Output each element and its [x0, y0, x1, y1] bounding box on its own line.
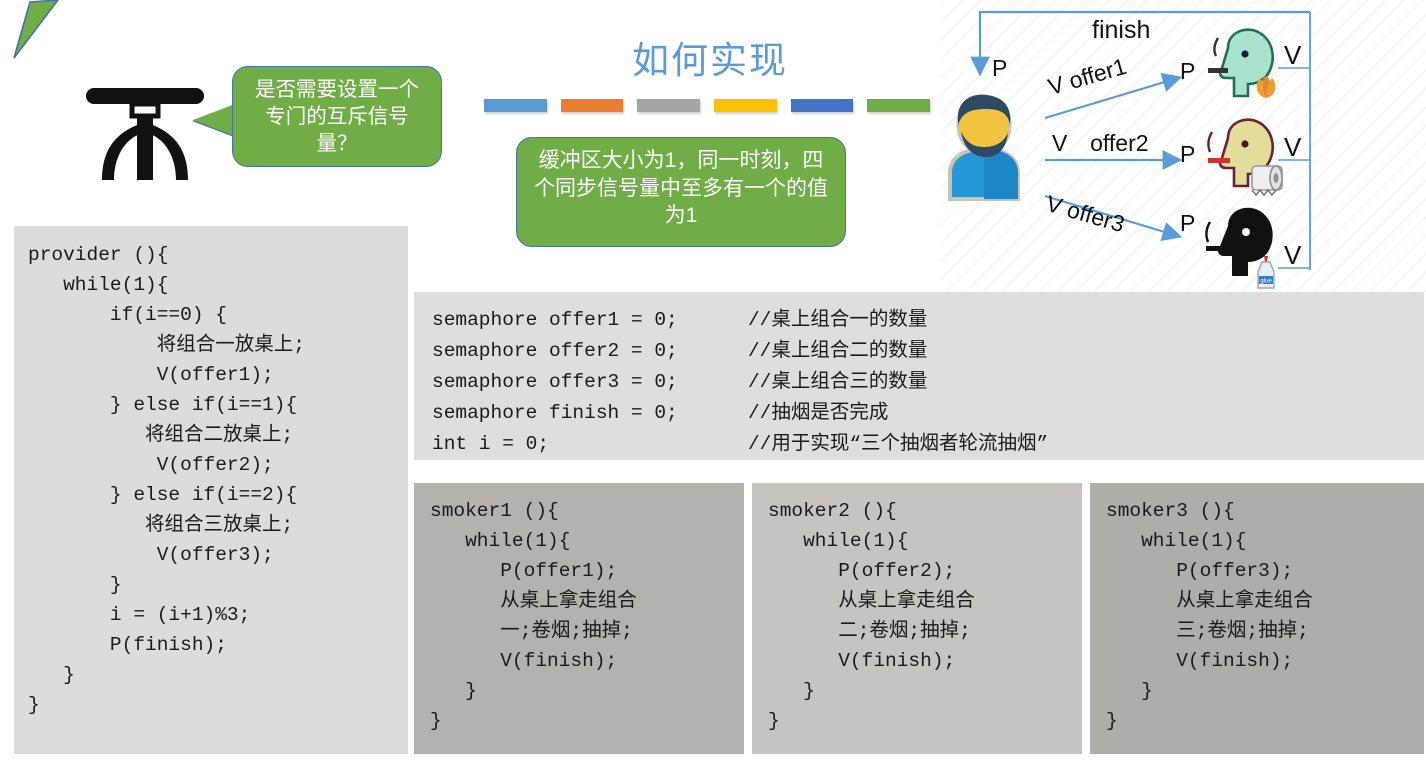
producer-consumer-diagram: finish P V offer1 V offer2 [940, 0, 1426, 292]
glue-bottle-icon: glue [1258, 256, 1274, 288]
finish-label: finish [1092, 18, 1150, 43]
smoker2-figure [1198, 118, 1288, 204]
mutex-callout: 是否需要设置一个专门的互斥信号量？ [232, 66, 442, 167]
code-block-semaphore-decl: semaphore offer1 = 0; //桌上组合一的数量 semapho… [414, 292, 1424, 460]
svg-text:glue: glue [1260, 278, 1272, 284]
accent-bar-strip [484, 99, 930, 112]
paper-roll-icon [1252, 166, 1282, 195]
buffer-callout-tail [0, 0, 60, 60]
code-block-smoker1: smoker1 (){ while(1){ P(offer1); 从桌上拿走组合… [414, 483, 744, 754]
offer2-name: offer2 [1090, 130, 1148, 156]
smoker1-p-label: P [1180, 60, 1195, 83]
slide-root: 如何实现 是否需要设置一个专门的互斥信号量？ 缓冲区大小为1，同一时刻，四个同步… [0, 0, 1426, 762]
mutex-callout-tail [193, 104, 235, 136]
provider-p-label: P [992, 57, 1007, 80]
buffer-callout: 缓冲区大小为1，同一时刻，四个同步信号量中至多有一个的值为1 [516, 137, 846, 247]
accent-bar-1 [484, 99, 547, 112]
offer2-v: V [1052, 130, 1067, 156]
accent-bar-5 [791, 99, 854, 112]
code-block-provider: provider (){ while(1){ if(i==0) { 将组合一放桌… [14, 226, 408, 754]
smoker1-figure [1198, 26, 1288, 110]
accent-bar-4 [714, 99, 777, 112]
code-block-smoker3: smoker3 (){ while(1){ P(offer3); 从桌上拿走组合… [1090, 483, 1424, 754]
page-title: 如何实现 [560, 30, 860, 84]
tobacco-leaf-icon [1257, 76, 1276, 98]
smoker3-figure: glue [1198, 206, 1288, 292]
accent-bar-2 [561, 99, 624, 112]
code-block-smoker2: smoker2 (){ while(1){ P(offer2); 从桌上拿走组合… [752, 483, 1082, 754]
accent-bar-6 [867, 99, 930, 112]
pedestal-table-icon [82, 78, 208, 188]
offer2-label: V offer2 [1052, 132, 1149, 155]
provider-avatar [944, 95, 1024, 200]
smoker3-p-label: P [1180, 212, 1195, 235]
smoker2-p-label: P [1180, 143, 1195, 166]
accent-bar-3 [637, 99, 700, 112]
